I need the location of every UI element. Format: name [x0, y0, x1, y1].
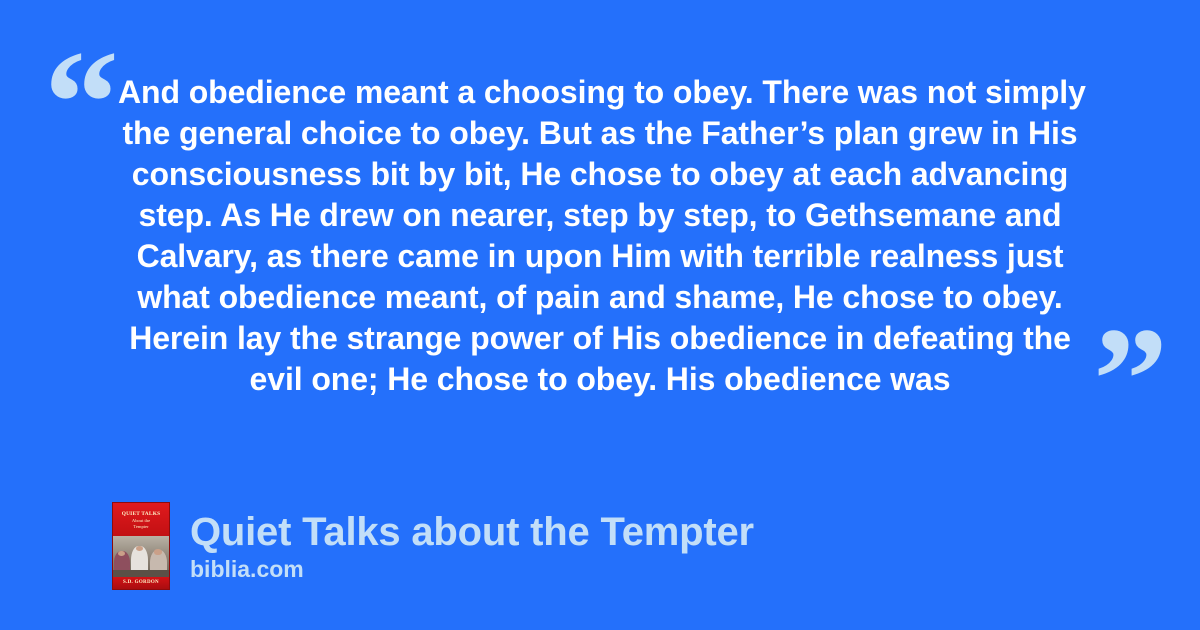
quote-line: evil one; He chose to obey. His obedienc…	[118, 359, 1082, 400]
quote-line: consciousness bit by bit, He chose to ob…	[118, 154, 1082, 195]
book-cover-title-band: QUIET TALKS About the Tempter	[113, 503, 169, 536]
closing-quote-icon: ”	[1093, 305, 1168, 455]
quote-line: And obedience meant a choosing to obey. …	[118, 72, 1082, 113]
site-name: biblia.com	[190, 556, 754, 583]
quote-line: Calvary, as there came in upon Him with …	[118, 236, 1082, 277]
book-title: Quiet Talks about the Tempter	[190, 510, 754, 554]
quote-line: what obedience meant, of pain and shame,…	[118, 277, 1082, 318]
book-cover-title-line1: QUIET TALKS	[122, 511, 161, 518]
book-cover-author: S.D. GORDON	[123, 580, 159, 585]
book-cover-author-band: S.D. GORDON	[113, 577, 169, 589]
quote-card: “ And obedience meant a choosing to obey…	[0, 0, 1200, 630]
quote-text-block: And obedience meant a choosing to obey. …	[118, 72, 1082, 400]
quote-line: step. As He drew on nearer, step by step…	[118, 195, 1082, 236]
quote-line: Herein lay the strange power of His obed…	[118, 318, 1082, 359]
footer-text-group: Quiet Talks about the Tempter biblia.com	[190, 510, 754, 583]
photo-table	[113, 570, 169, 577]
footer-attribution: QUIET TALKS About the Tempter S.D. GORDO…	[112, 502, 754, 590]
quote-line: the general choice to obey. But as the F…	[118, 113, 1082, 154]
photo-figure-head	[154, 549, 161, 554]
opening-quote-icon: “	[44, 28, 119, 178]
book-cover-photo	[113, 536, 169, 577]
book-cover-thumbnail: QUIET TALKS About the Tempter S.D. GORDO…	[112, 502, 170, 590]
book-cover-title-line3: Tempter	[133, 524, 148, 530]
